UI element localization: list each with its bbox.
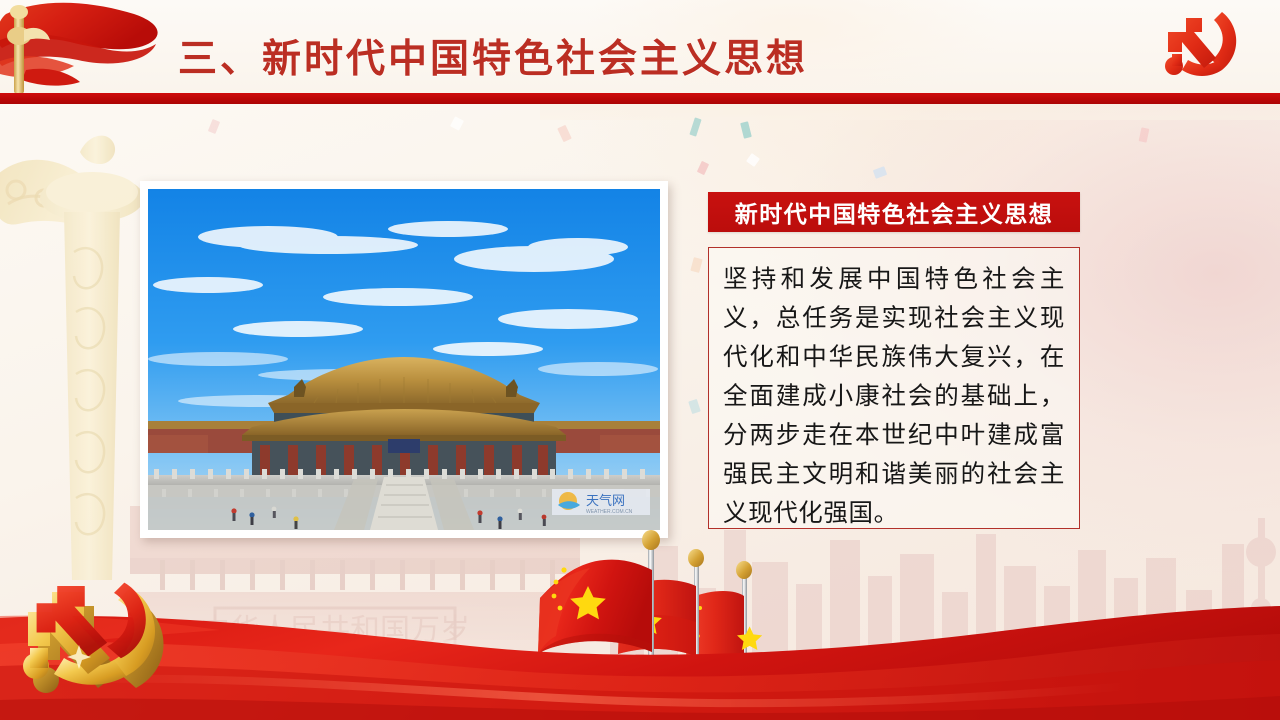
slide-root: 中华人民共和国万岁	[0, 0, 1280, 720]
slide-header: 三、新时代中国特色社会主义思想	[0, 0, 1280, 94]
page-title: 三、新时代中国特色社会主义思想	[178, 28, 808, 84]
party-emblem-icon	[1156, 8, 1252, 88]
forbidden-city-photo: 天气网 WEATHER.COM.CN	[148, 189, 660, 530]
content-banner: 新时代中国特色社会主义思想	[708, 192, 1080, 232]
content-banner-title: 新时代中国特色社会主义思想	[735, 195, 1054, 229]
red-flag-icon	[0, 0, 182, 94]
content-text-box: 坚持和发展中国特色社会主义，总任务是实现社会主义现代化和中华民族伟大复兴，在全面…	[708, 247, 1080, 529]
photo-frame: 天气网 WEATHER.COM.CN	[140, 181, 668, 538]
header-divider	[0, 93, 1280, 104]
hammer-sickle-badge-icon	[18, 578, 203, 698]
